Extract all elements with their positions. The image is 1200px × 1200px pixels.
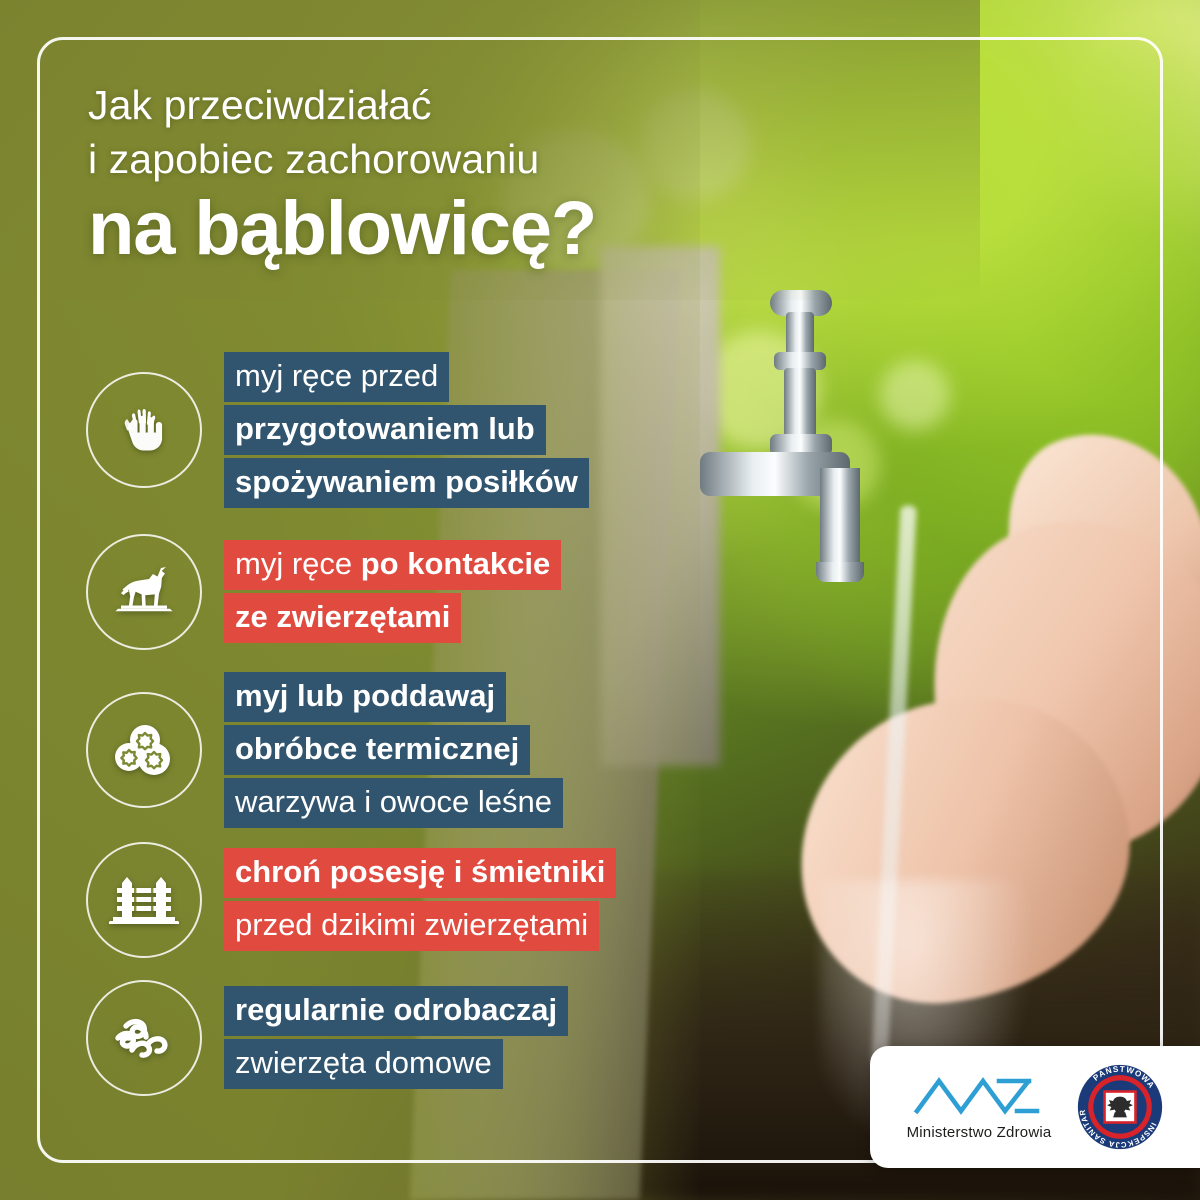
washing-hands-icon <box>86 372 202 488</box>
tip-line: warzywa i owoce leśne <box>224 778 563 828</box>
page-title: Jak przeciwdziałać i zapobiec zachorowan… <box>88 78 888 268</box>
tip-text-group: chroń posesję i śmietniki przed dzikimi … <box>224 848 616 951</box>
tip-text-group: myj lub poddawaj obróbce termicznej warz… <box>224 672 563 828</box>
tip-line: myj ręce po kontakcie <box>224 540 561 590</box>
tip-line-regular: myj ręce <box>235 546 361 581</box>
headline-line-1: Jak przeciwdziałać <box>88 78 888 132</box>
tip-line: regularnie odrobaczaj <box>224 986 568 1036</box>
headline-line-2: i zapobiec zachorowaniu <box>88 132 888 186</box>
berries-icon <box>86 692 202 808</box>
tip-line: myj ręce przed <box>224 352 449 402</box>
list-item: regularnie odrobaczaj zwierzęta domowe <box>86 980 846 1096</box>
tip-text-group: myj ręce przed przygotowaniem lub spożyw… <box>224 352 589 508</box>
tip-line: ze zwierzętami <box>224 593 461 643</box>
sanitary-inspection-seal: PAŃSTWOWA INSPEKCJA SANITARNA <box>1077 1064 1163 1150</box>
worms-icon <box>86 980 202 1096</box>
logo-plate: Ministerstwo Zdrowia PAŃSTWOWA <box>870 1046 1200 1168</box>
tip-line: chroń posesję i śmietniki <box>224 848 616 898</box>
tip-line: przygotowaniem lub <box>224 405 546 455</box>
list-item: myj lub poddawaj obróbce termicznej warz… <box>86 672 846 828</box>
tip-line: przed dzikimi zwierzętami <box>224 901 599 951</box>
list-item: chroń posesję i śmietniki przed dzikimi … <box>86 842 846 958</box>
poster-root: Jak przeciwdziałać i zapobiec zachorowan… <box>0 0 1200 1200</box>
tips-list: myj ręce przed przygotowaniem lub spożyw… <box>86 352 846 1096</box>
list-item: myj ręce przed przygotowaniem lub spożyw… <box>86 352 846 508</box>
tip-text-group: regularnie odrobaczaj zwierzęta domowe <box>224 986 568 1089</box>
ministry-caption: Ministerstwo Zdrowia <box>907 1124 1052 1141</box>
tip-line: myj lub poddawaj <box>224 672 506 722</box>
tip-text-group: myj ręce po kontakcie ze zwierzętami <box>224 540 561 643</box>
list-item: myj ręce po kontakcie ze zwierzętami <box>86 534 846 650</box>
tip-line: obróbce termicznej <box>224 725 530 775</box>
headline-line-3: na bąblowicę? <box>88 190 888 268</box>
ministry-of-health-logo: Ministerstwo Zdrowia <box>907 1073 1052 1141</box>
tip-line-bold: po kontakcie <box>361 546 551 581</box>
tip-line: spożywaniem posiłków <box>224 458 589 508</box>
mz-zigzag-icon <box>913 1073 1045 1119</box>
fence-icon <box>86 842 202 958</box>
dog-icon <box>86 534 202 650</box>
tip-line: zwierzęta domowe <box>224 1039 503 1089</box>
